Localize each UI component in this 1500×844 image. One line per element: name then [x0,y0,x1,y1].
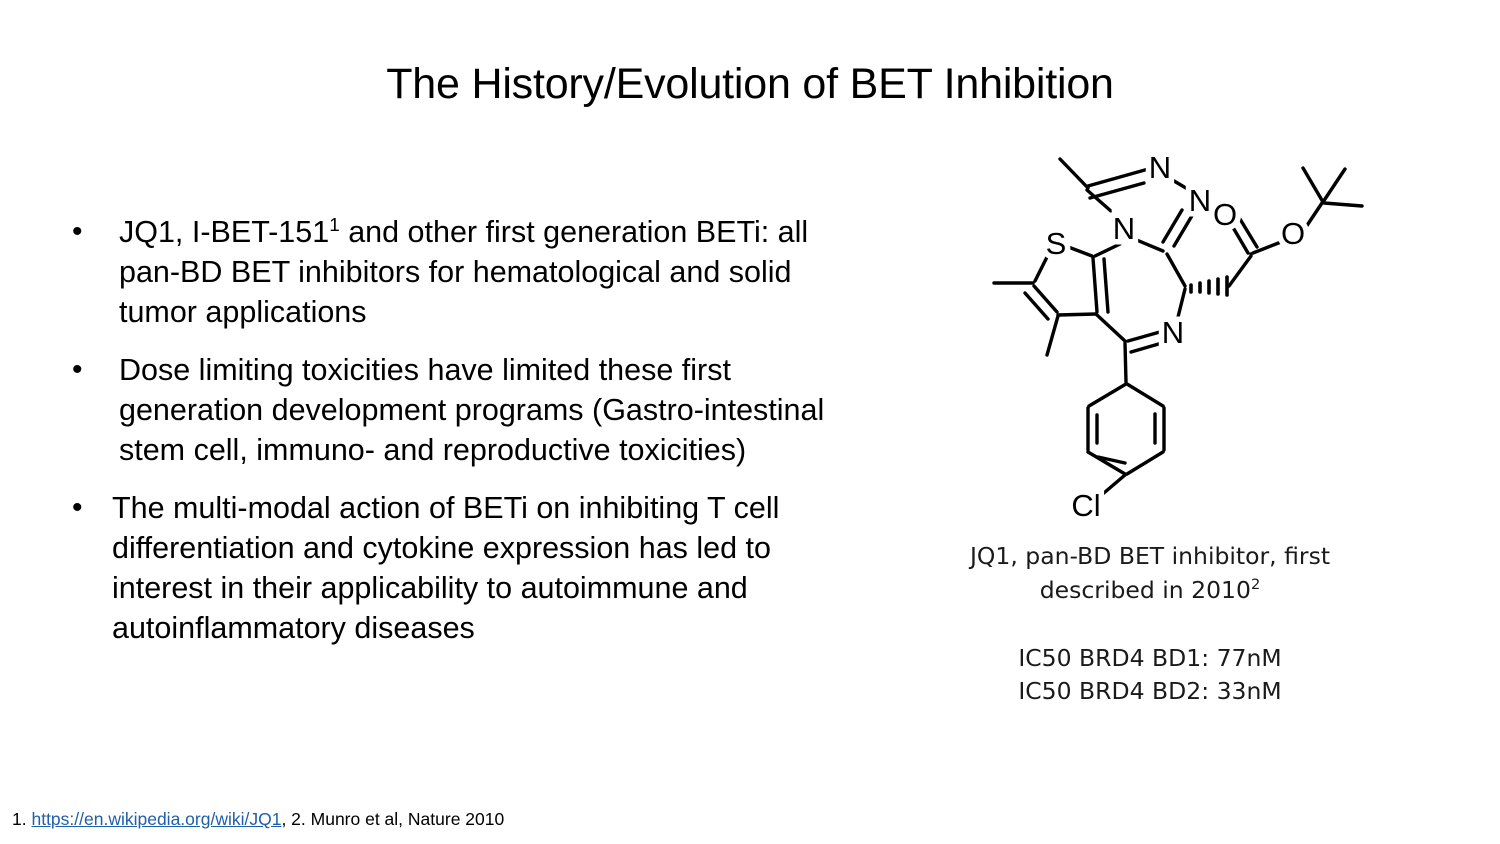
structure-caption-line1: JQ1, pan-BD BET inhibitor, first [970,542,1330,570]
atom-label-n-imine: N [1162,315,1184,350]
ic50-bd2: IC50 BRD4 BD2: 33nM [930,675,1370,708]
list-item-text: Dose limiting toxicities have limited th… [68,350,868,470]
atom-label-group: N N N N S O O Cl [1046,150,1305,518]
atom-label-o-ester: O [1281,216,1305,251]
bullet-marker-icon: • [72,488,92,528]
structure-caption: JQ1, pan-BD BET inhibitor, first describ… [930,539,1370,607]
footnote-suffix: , 2. Munro et al, Nature 2010 [281,809,504,829]
atom-label-s-thiophene: S [1046,226,1067,261]
ic50-values: IC50 BRD4 BD1: 77nM IC50 BRD4 BD2: 33nM [930,642,1370,708]
structure-caption-line2: described in 2010 [1040,576,1251,604]
list-item-superscript: 1 [329,215,340,236]
list-item-text: JQ1, I-BET-1511 and other first generati… [68,212,868,332]
footnote-prefix: 1. [12,809,31,829]
slide-canvas: The History/Evolution of BET Inhibition … [0,0,1500,844]
list-item-text: The multi-modal action of BETi on inhibi… [68,488,868,648]
atom-label-n-bridgehead: N [1113,211,1135,246]
atom-label-n-triazole-right: N [1189,183,1211,218]
jq1-structure-svg: N N N N S O O Cl N N N N S O O [948,126,1394,518]
atom-label-n-triazole-top: N [1149,150,1171,185]
ic50-bd1: IC50 BRD4 BD1: 77nM [930,642,1370,675]
list-item: • Dose limiting toxicities have limited … [68,350,868,470]
list-item: • The multi-modal action of BETi on inhi… [68,488,868,648]
footnote: 1. https://en.wikipedia.org/wiki/JQ1, 2.… [12,808,504,830]
list-item: • JQ1, I-BET-1511 and other first genera… [68,212,868,332]
stereo-hash-bond [1191,277,1227,295]
bullet-marker-icon: • [72,350,92,390]
footnote-link[interactable]: https://en.wikipedia.org/wiki/JQ1 [31,809,281,829]
atom-label-cl: Cl [1071,488,1100,518]
list-item-text-part1: JQ1, I-BET-151 [119,215,329,249]
atom-label-o-carbonyl: O [1213,197,1237,232]
bullet-marker-icon: • [72,212,92,252]
page-title: The History/Evolution of BET Inhibition [0,62,1500,107]
structure-caption-superscript: 2 [1251,576,1260,593]
bullet-list: • JQ1, I-BET-1511 and other first genera… [68,212,868,648]
jq1-chemical-structure: N N N N S O O Cl N N N N S O O [948,126,1394,518]
